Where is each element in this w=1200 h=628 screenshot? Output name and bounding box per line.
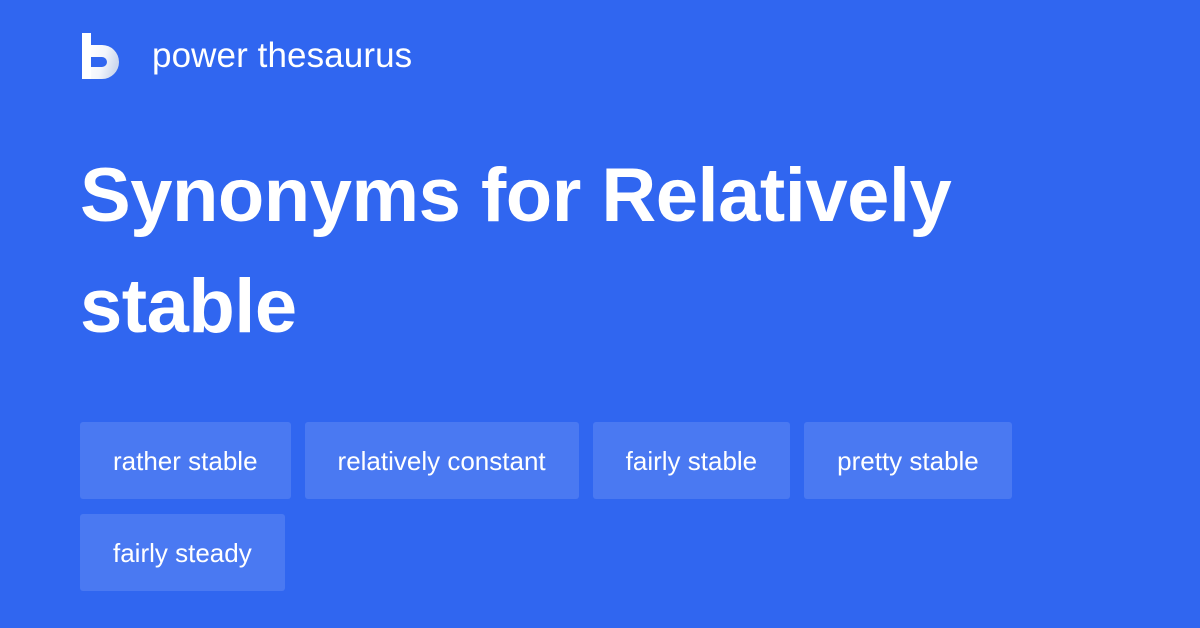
synonym-chip[interactable]: fairly stable [593, 422, 791, 499]
synonym-chip[interactable]: rather stable [80, 422, 291, 499]
synonym-chip-label: relatively constant [338, 446, 546, 476]
brand-name: power thesaurus [152, 36, 412, 76]
synonym-chip-list: rather stable relatively constant fairly… [80, 422, 1120, 591]
synonym-chip[interactable]: pretty stable [804, 422, 1012, 499]
synonym-chip-label: pretty stable [837, 446, 979, 476]
brand-logo[interactable]: power thesaurus [80, 28, 412, 84]
power-thesaurus-b-logo-icon [80, 33, 124, 79]
social-share-card: power thesaurus Synonyms for Relatively … [0, 0, 1200, 628]
synonym-chip-label: fairly steady [113, 538, 252, 568]
synonym-chip[interactable]: relatively constant [305, 422, 579, 499]
synonym-chip-label: rather stable [113, 446, 258, 476]
synonym-chip-label: fairly stable [626, 446, 758, 476]
synonym-chip[interactable]: fairly steady [80, 514, 285, 591]
page-title: Synonyms for Relatively stable [80, 140, 1090, 362]
